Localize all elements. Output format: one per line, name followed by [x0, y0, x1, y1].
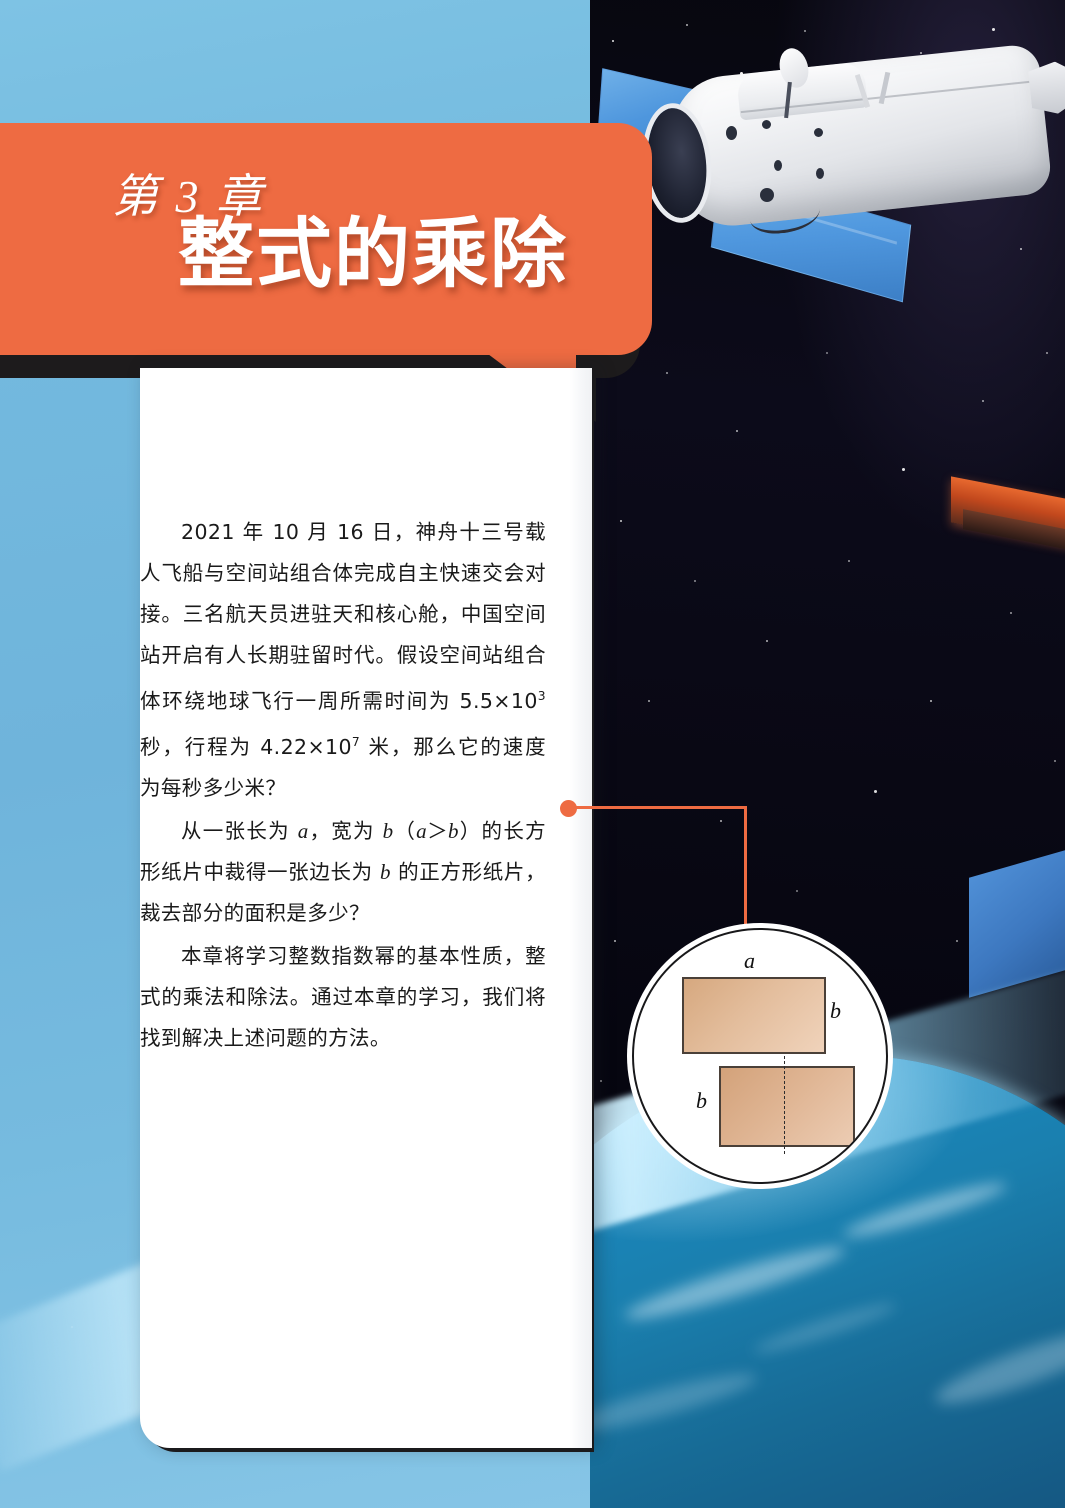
chapter-title: 整式的乘除 — [178, 216, 568, 292]
rectangle-diagram-inset: a b b — [632, 928, 888, 1184]
diagram-rectangle-large — [682, 977, 826, 1054]
diagram-cut-dashed-line — [784, 1056, 785, 1154]
chapter-opener-page: 第 3 章 整式的乘除 2021 年 10 月 16 日，神舟十三号载人飞船与空… — [0, 0, 1065, 1508]
station-hatch-1 — [726, 126, 737, 140]
station-hatch-5 — [814, 128, 823, 137]
intro-text-block: 2021 年 10 月 16 日，神舟十三号载人飞船与空间站组合体完成自主快速交… — [140, 512, 546, 1061]
paragraph-3: 本章将学习整数指数幂的基本性质，整式的乘法和除法。通过本章的学习，我们将找到解决… — [140, 936, 546, 1059]
diagram-label-a: a — [744, 948, 755, 974]
connector-line-horizontal — [572, 806, 747, 809]
content-card-edge-gradient — [570, 368, 592, 1448]
diagram-label-b-left: b — [696, 1088, 707, 1114]
diagram-rectangle-small — [719, 1066, 855, 1147]
space-photo — [590, 0, 1065, 1508]
station-hatch-3 — [816, 168, 824, 179]
paragraph-1: 2021 年 10 月 16 日，神舟十三号载人飞船与空间站组合体完成自主快速交… — [140, 512, 546, 809]
paragraph-2: 从一张长为 a，宽为 b（a＞b）的长方形纸片中裁得一张边长为 b 的正方形纸片… — [140, 811, 546, 934]
station-hatch-2 — [774, 160, 782, 171]
diagram-label-b-right: b — [830, 998, 841, 1024]
station-hatch-4 — [762, 120, 771, 129]
space-station — [590, 0, 1065, 460]
connector-line-vertical — [744, 806, 747, 938]
